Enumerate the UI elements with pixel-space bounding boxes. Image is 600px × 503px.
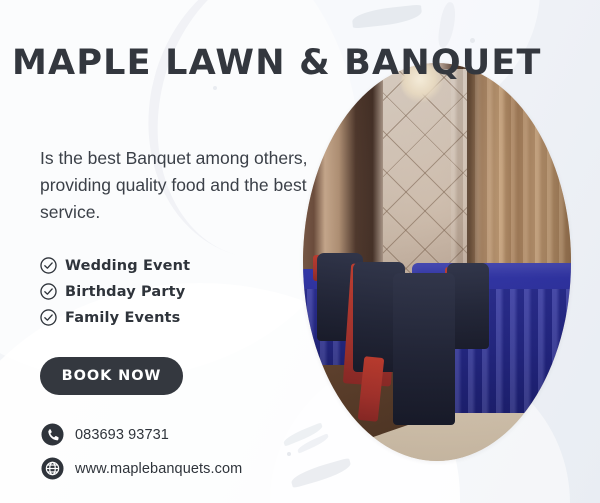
globe-icon [41, 457, 64, 480]
banquet-promo-poster: MAPLE LAWN & BANQUET Is the best Banquet… [0, 0, 600, 503]
check-circle-icon [39, 256, 58, 275]
feature-list: Wedding Event Birthday Party Family Even… [39, 253, 190, 330]
dot-decoration [213, 86, 217, 90]
feature-label: Birthday Party [65, 284, 185, 300]
phone-icon [41, 423, 64, 446]
contact-website-row[interactable]: www.maplebanquets.com [41, 454, 242, 483]
contact-info: 083693 93731 www.maplebanquets.com [41, 420, 242, 483]
poster-subtitle: Is the best Banquet among others, provid… [40, 145, 325, 226]
website-url: www.maplebanquets.com [75, 461, 242, 477]
page-title: MAPLE LAWN & BANQUET [12, 43, 542, 83]
check-circle-icon [39, 308, 58, 327]
feature-label: Family Events [65, 310, 180, 326]
photo-vignette [303, 63, 571, 461]
check-circle-icon [39, 282, 58, 301]
list-item: Wedding Event [39, 253, 190, 278]
photo-content [303, 63, 571, 461]
list-item: Birthday Party [39, 279, 190, 304]
book-now-button[interactable]: BOOK NOW [40, 357, 183, 395]
list-item: Family Events [39, 305, 190, 330]
dot-decoration [287, 452, 291, 456]
banquet-hall-photo [303, 63, 571, 461]
contact-phone-row[interactable]: 083693 93731 [41, 420, 242, 449]
phone-number: 083693 93731 [75, 427, 169, 443]
feature-label: Wedding Event [65, 258, 190, 274]
